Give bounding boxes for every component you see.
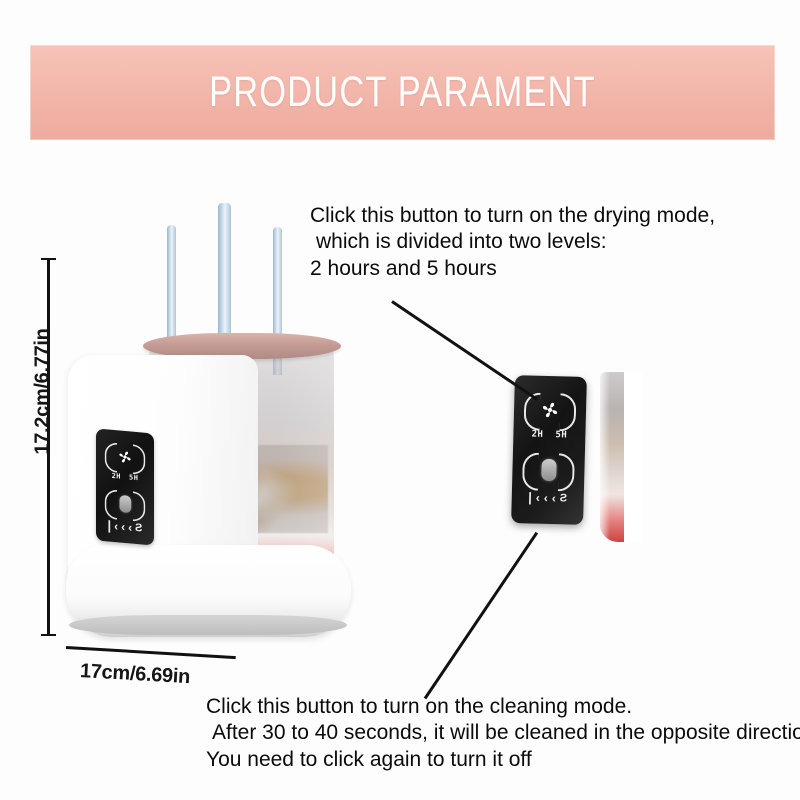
arc-right-decor	[558, 453, 575, 491]
product-base-ring	[69, 615, 347, 635]
annotation-cleaning-line-1: Click this button to turn on the cleanin…	[206, 694, 800, 720]
annotation-drying-line-2: which is divided into two levels:	[310, 229, 715, 255]
speed-mark-0: |	[528, 489, 532, 504]
control-panel-detail[interactable]: 2H 5H | ‹ ‹ ‹ S	[511, 375, 587, 525]
speed-mark-1: ‹	[114, 519, 118, 533]
annotation-drying-mode: Click this button to turn on the drying …	[310, 203, 715, 282]
arc-right-decor	[133, 444, 145, 475]
drying-levels-row: 2H 5H	[513, 429, 585, 441]
sliver-mask	[624, 372, 642, 542]
height-dimension-cap-bottom	[41, 634, 56, 636]
speed-indicator-row: | ‹ ‹ ‹ S	[512, 489, 584, 506]
cleaning-mode-button[interactable]	[512, 447, 585, 493]
speed-mark-2: ‹	[121, 519, 125, 533]
drying-level-5h-small: 5H	[129, 473, 138, 482]
header-banner: PRODUCT PARAMENT	[30, 45, 775, 140]
arc-right-decor	[133, 491, 145, 522]
leader-line-drying	[391, 300, 538, 400]
speed-mark-4: S	[560, 492, 568, 504]
drying-level-2h: 2H	[531, 430, 543, 440]
annotation-cleaning-mode: Click this button to turn on the cleanin…	[206, 694, 800, 773]
speed-mark-3: ‹	[552, 491, 556, 505]
drying-level-2h-small: 2H	[112, 472, 121, 481]
leader-line-cleaning	[424, 532, 538, 699]
width-dimension-label: 17cm/6.69in	[79, 660, 190, 689]
speed-mark-4: S	[135, 521, 142, 534]
sliver-highlight	[600, 372, 610, 542]
clean-button-icon	[119, 495, 131, 513]
speed-mark-0: |	[108, 517, 112, 532]
arc-left-decor	[105, 489, 117, 520]
width-dimension-line	[66, 646, 236, 659]
height-dimension-label: 17.2cm/6.77in	[32, 312, 55, 472]
clean-button-icon	[541, 459, 557, 481]
annotation-drying-line-3: 2 hours and 5 hours	[310, 256, 715, 282]
control-panel-on-product[interactable]: 2H 5H | ‹ ‹ ‹ S	[96, 428, 154, 545]
arc-right-decor	[559, 393, 576, 431]
fan-icon	[539, 399, 562, 422]
fan-icon	[116, 448, 133, 467]
page-title: PRODUCT PARAMENT	[105, 45, 701, 140]
drying-level-5h: 5H	[555, 430, 567, 440]
annotation-cleaning-line-2: After 30 to 40 seconds, it will be clean…	[206, 720, 800, 746]
speed-mark-1: ‹	[536, 490, 540, 504]
speed-mark-3: ‹	[128, 520, 132, 534]
arc-left-decor	[105, 442, 117, 473]
drying-mode-button[interactable]	[513, 387, 586, 433]
annotation-drying-line-1: Click this button to turn on the drying …	[310, 203, 715, 229]
arc-left-decor	[522, 452, 539, 490]
annotation-cleaning-line-3: You need to click again to turn it off	[206, 747, 800, 773]
speed-mark-2: ‹	[544, 490, 548, 504]
infographic-canvas: PRODUCT PARAMENT 17.2cm/6.77in 17cm/6.69…	[0, 0, 800, 800]
